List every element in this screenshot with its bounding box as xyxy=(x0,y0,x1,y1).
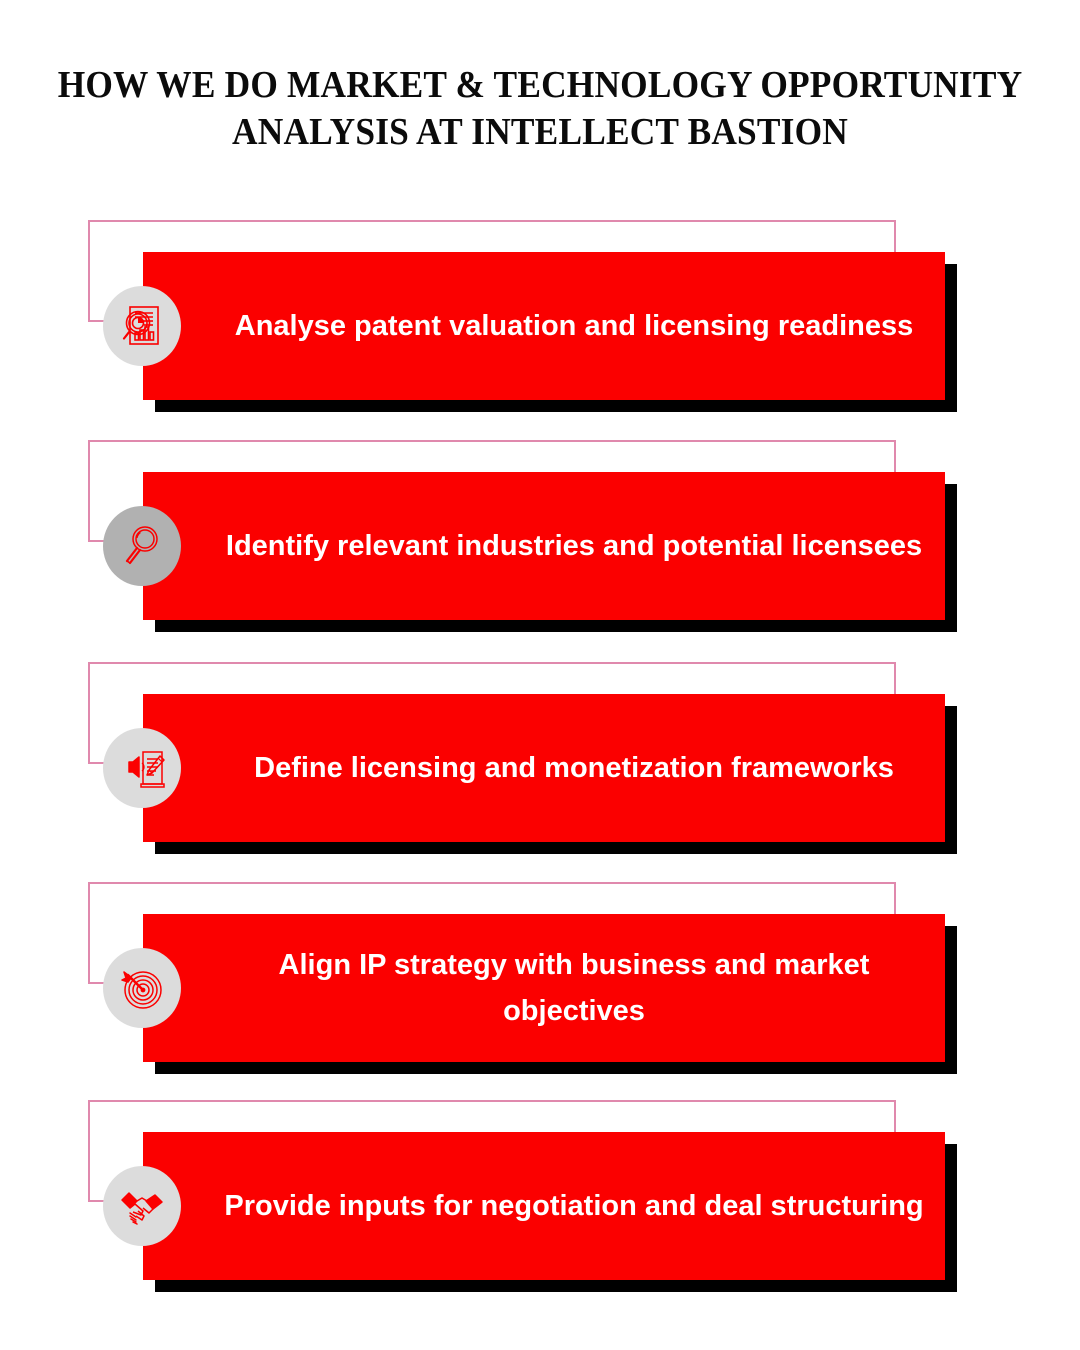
steps-list: Analyse patent valuation and licensing r… xyxy=(0,0,1080,1350)
step-card-1[interactable]: Analyse patent valuation and licensing r… xyxy=(143,252,945,400)
step-card-label: Identify relevant industries and potenti… xyxy=(224,523,924,569)
step-item-3: Define licensing and monetization framew… xyxy=(0,656,1080,856)
step-card-5[interactable]: Provide inputs for negotiation and deal … xyxy=(143,1132,945,1280)
step-item-1: Analyse patent valuation and licensing r… xyxy=(0,214,1080,414)
step-item-4: Align IP strategy with business and mark… xyxy=(0,876,1080,1076)
step-card-3[interactable]: Define licensing and monetization framew… xyxy=(143,694,945,842)
step-card-2[interactable]: Identify relevant industries and potenti… xyxy=(143,472,945,620)
magnifier-icon xyxy=(103,506,181,586)
handshake-icon xyxy=(103,1166,181,1246)
step-card-label: Align IP strategy with business and mark… xyxy=(224,942,924,1034)
document-pencil-megaphone-icon xyxy=(103,728,181,808)
step-item-5: Provide inputs for negotiation and deal … xyxy=(0,1094,1080,1294)
report-analysis-icon xyxy=(103,286,181,366)
step-card-4[interactable]: Align IP strategy with business and mark… xyxy=(143,914,945,1062)
target-dart-icon xyxy=(103,948,181,1028)
step-item-2: Identify relevant industries and potenti… xyxy=(0,434,1080,634)
step-card-label: Define licensing and monetization framew… xyxy=(224,745,924,791)
step-card-label: Provide inputs for negotiation and deal … xyxy=(224,1183,924,1229)
step-card-label: Analyse patent valuation and licensing r… xyxy=(224,303,924,349)
